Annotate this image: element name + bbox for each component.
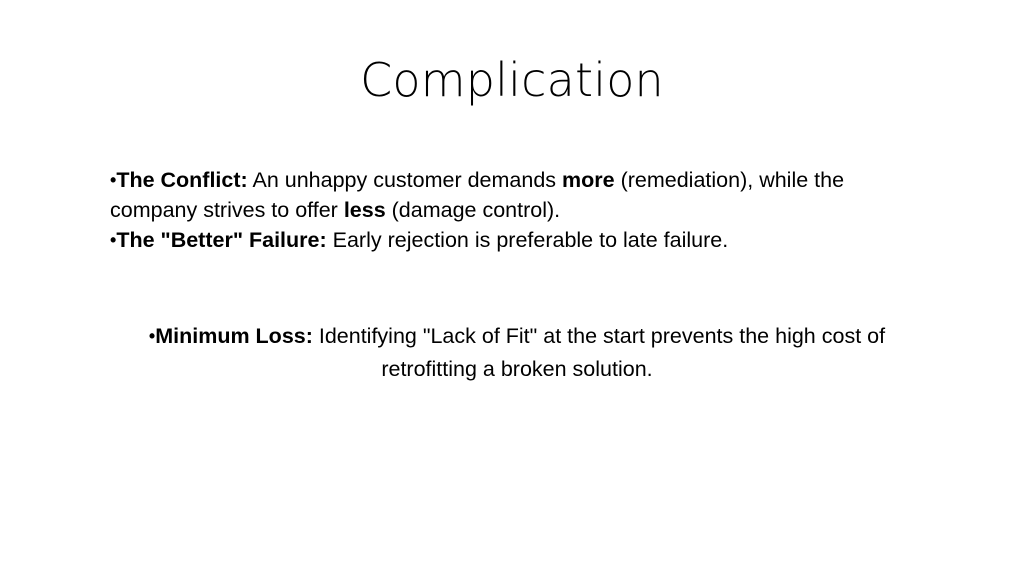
bullet-paragraph: •Minimum Loss: Identifying "Lack of Fit"… (102, 320, 932, 386)
bullet-body-text: (damage control). (386, 198, 560, 222)
slide-canvas: Complication •The Conflict: An unhappy c… (0, 0, 1024, 576)
bullet-paragraph: •The Conflict: An unhappy customer deman… (110, 165, 910, 225)
bullet-lead-label: The Conflict: (116, 168, 247, 192)
content-block-primary: •The Conflict: An unhappy customer deman… (110, 165, 910, 255)
emphasis-text: less (344, 198, 386, 222)
emphasis-text: more (562, 168, 615, 192)
content-block-secondary: •Minimum Loss: Identifying "Lack of Fit"… (102, 320, 932, 386)
bullet-body-text: Identifying "Lack of Fit" at the start p… (313, 324, 885, 381)
bullet-lead-label: The "Better" Failure: (116, 228, 326, 252)
bullet-lead-label: Minimum Loss: (155, 324, 313, 348)
bullet-body-text: Early rejection is preferable to late fa… (327, 228, 729, 252)
bullet-body-text: An unhappy customer demands (248, 168, 562, 192)
page-title: Complication (0, 52, 1024, 108)
bullet-paragraph: •The "Better" Failure: Early rejection i… (110, 225, 910, 255)
